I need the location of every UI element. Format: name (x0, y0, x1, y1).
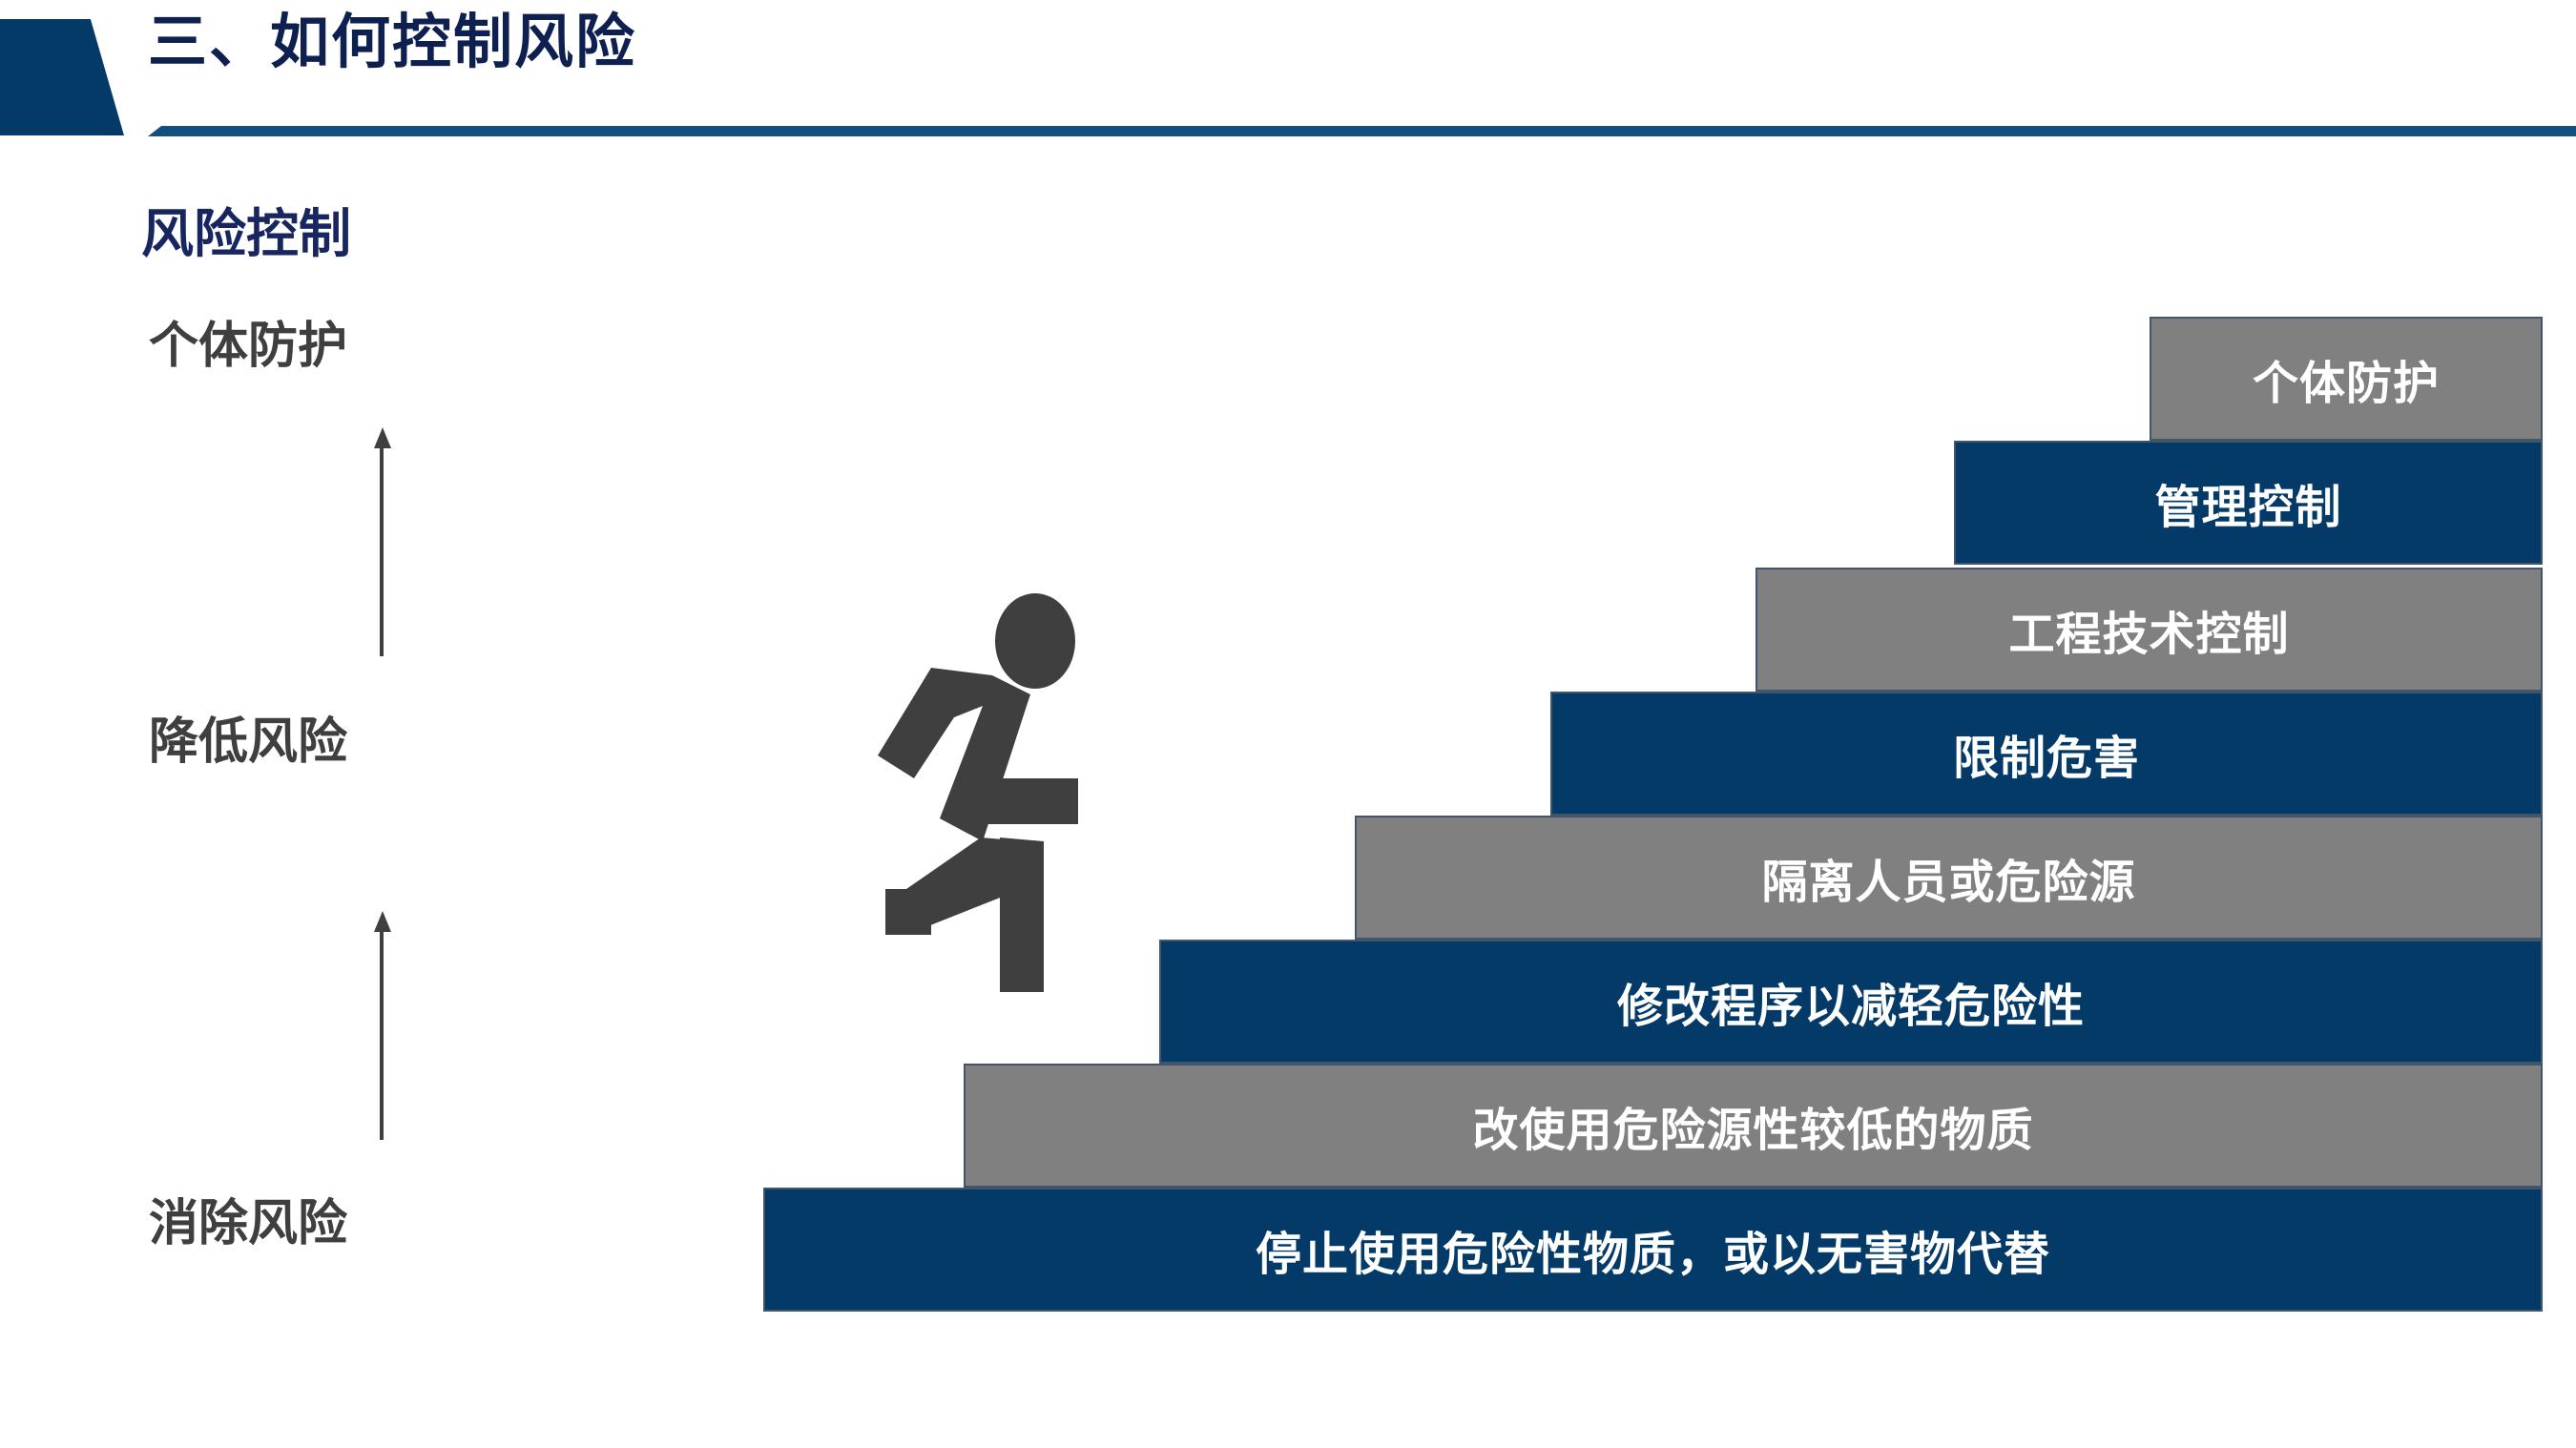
staircase-step-label: 限制危害 (1953, 720, 2140, 787)
staircase-step-label: 工程技术控制 (2008, 596, 2289, 663)
staircase-step: 停止使用危险性物质，或以无害物代替 (763, 1188, 2543, 1312)
staircase-step: 修改程序以减轻危险性 (1159, 940, 2543, 1064)
risk-control-staircase-chart: 停止使用危险性物质，或以无害物代替改使用危险源性较低的物质修改程序以减轻危险性隔… (0, 0, 2576, 1448)
staircase-step: 工程技术控制 (1755, 568, 2543, 692)
staircase-step: 管理控制 (1954, 441, 2543, 565)
staircase-step-label: 隔离人员或危险源 (1761, 844, 2135, 911)
staircase-step-label: 管理控制 (2154, 469, 2341, 536)
slide-canvas: 三、如何控制风险 风险控制 个体防护 降低风险 消除风险 停止使用危险性物质，或… (0, 0, 2576, 1448)
staircase-step-label: 停止使用危险性物质，或以无害物代替 (1256, 1216, 2050, 1283)
staircase-step: 限制危害 (1550, 692, 2543, 816)
running-person-icon (840, 591, 1183, 1021)
staircase-step: 个体防护 (2150, 317, 2543, 441)
staircase-step-label: 改使用危险源性较低的物质 (1472, 1092, 2033, 1159)
staircase-step: 隔离人员或危险源 (1355, 816, 2543, 940)
staircase-step-label: 个体防护 (2253, 345, 2440, 412)
staircase-step-label: 修改程序以减轻危险性 (1617, 968, 2085, 1035)
staircase-step: 改使用危险源性较低的物质 (964, 1064, 2543, 1188)
